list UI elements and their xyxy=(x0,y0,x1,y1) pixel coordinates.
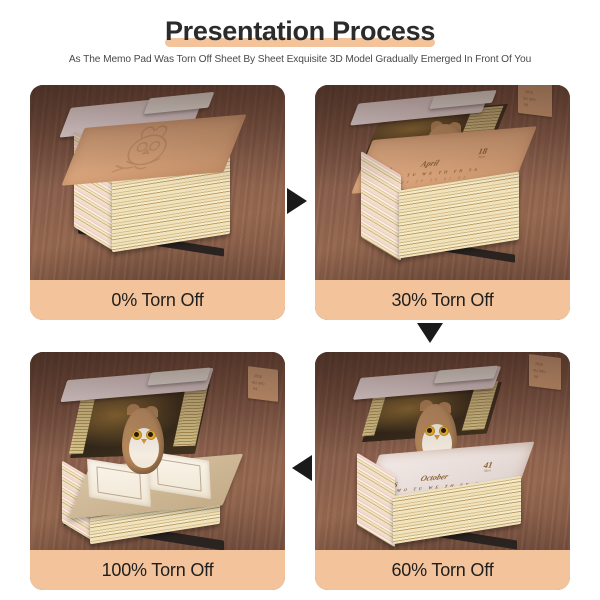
panel-100-caption: 100% Torn Off xyxy=(30,550,285,590)
calendar-month: October xyxy=(419,473,449,483)
background-memo-pad: 2026 SU MO 04 xyxy=(529,354,561,390)
memo-pad-scene-30: 2026 SU MO 04 xyxy=(315,85,570,280)
panel-100-percent[interactable]: 2026 SU MO 04 xyxy=(30,352,285,590)
panel-100-photo: 2026 SU MO 04 xyxy=(30,352,285,550)
owl-figurine xyxy=(114,404,174,482)
page-title-text: Presentation Process xyxy=(165,14,435,48)
presentation-process-infographic: Presentation Process As The Memo Pad Was… xyxy=(0,0,600,600)
bgpad-year: 2026 xyxy=(525,89,533,95)
owl-pupil-right xyxy=(441,428,446,433)
owl-pupil-left xyxy=(427,428,432,433)
bgpad-nums: 04 xyxy=(253,386,257,391)
arrow-down-icon xyxy=(417,323,443,343)
owl-beak xyxy=(434,435,440,440)
memo-pad-scene-60: 2026 SU MO 04 xyxy=(315,352,570,550)
panel-30-photo: 2026 SU MO 04 xyxy=(315,85,570,280)
embossed-owl-icon xyxy=(91,122,201,181)
panel-30-percent[interactable]: 2026 SU MO 04 xyxy=(315,85,570,320)
calendar-weekday-label: Mon xyxy=(483,469,491,473)
panel-grid: 0% Torn Off 2026 SU MO 04 xyxy=(0,0,600,600)
calendar-weekday-label: Mon xyxy=(477,156,485,160)
panel-0-photo xyxy=(30,85,285,280)
panel-0-percent[interactable]: 0% Torn Off xyxy=(30,85,285,320)
arrow-left-icon xyxy=(292,455,312,481)
calendar-month: April xyxy=(419,159,440,168)
bgpad-year: 2026 xyxy=(535,361,543,367)
bgpad-nums: 04 xyxy=(524,102,528,107)
panel-0-caption: 0% Torn Off xyxy=(30,280,285,320)
arrow-right-icon xyxy=(287,188,307,214)
bgpad-year: 2026 xyxy=(254,373,262,379)
bgpad-nums: 04 xyxy=(534,374,538,379)
owl-pupil-left xyxy=(134,432,139,437)
panel-60-photo: 2026 SU MO 04 xyxy=(315,352,570,550)
memo-pad-scene-0 xyxy=(30,85,285,280)
owl-pupil-right xyxy=(148,432,153,437)
panel-30-caption: 30% Torn Off xyxy=(315,280,570,320)
panel-60-percent[interactable]: 2026 SU MO 04 xyxy=(315,352,570,590)
background-memo-pad: 2026 SU MO 04 xyxy=(518,85,552,117)
panel-60-caption: 60% Torn Off xyxy=(315,550,570,590)
background-memo-pad: 2026 SU MO 04 xyxy=(248,366,278,402)
memo-pad-scene-100: 2026 SU MO 04 xyxy=(30,352,285,550)
owl-beak xyxy=(141,439,147,444)
